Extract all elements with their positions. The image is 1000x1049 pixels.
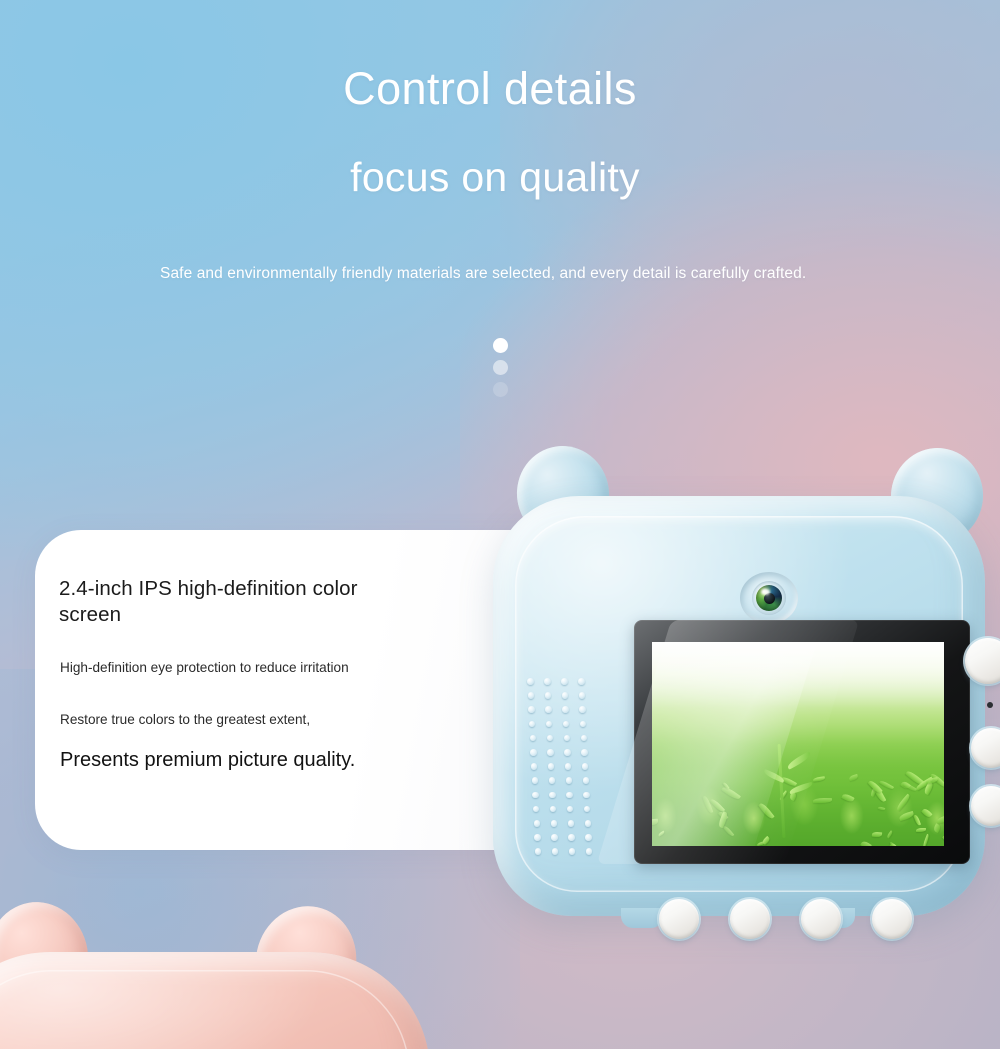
- side-button-shutter[interactable]: [965, 638, 1000, 684]
- display-grass-blade: [762, 836, 771, 845]
- display-grass-blade: [898, 810, 914, 820]
- speaker-dot: [584, 806, 591, 813]
- scroll-dot-2: [493, 360, 508, 375]
- display-grass-blade: [652, 819, 658, 825]
- speaker-dot: [583, 792, 590, 799]
- display-grass-blade: [872, 832, 883, 838]
- speaker-dot: [562, 706, 569, 713]
- display-grass-blade: [896, 793, 912, 811]
- speaker-dot: [551, 834, 558, 841]
- camera-lens-icon: [756, 585, 782, 611]
- side-button-up[interactable]: [971, 728, 1000, 768]
- display-grass-blade: [937, 814, 944, 824]
- speaker-dot: [532, 777, 539, 784]
- speaker-dot-grid: [521, 674, 599, 864]
- display-grass-blade: [722, 825, 734, 838]
- speaker-dot: [535, 848, 542, 855]
- screen-bezel: [634, 620, 970, 864]
- bottom-button-4[interactable]: [872, 899, 912, 939]
- speaker-dot: [549, 777, 556, 784]
- speaker-dot: [578, 678, 585, 685]
- speaker-dot: [582, 763, 589, 770]
- display-grass-blade: [721, 785, 741, 801]
- camera-lens-ring: [740, 572, 798, 624]
- speaker-dot: [583, 777, 590, 784]
- speaker-dot: [531, 763, 538, 770]
- speaker-dot: [568, 820, 575, 827]
- speaker-dot: [530, 735, 537, 742]
- feature-card-bullet-3: Presents premium picture quality.: [60, 748, 480, 774]
- speaker-dot: [545, 706, 552, 713]
- display-grass-blade: [921, 807, 932, 818]
- speaker-dot: [579, 692, 586, 699]
- speaker-dot: [528, 692, 535, 699]
- speaker-dot: [569, 848, 576, 855]
- feature-card-title: 2.4-inch IPS high-definition color scree…: [59, 576, 419, 627]
- speaker-dot: [552, 848, 559, 855]
- speaker-dot: [545, 692, 552, 699]
- camera-body: [493, 496, 985, 916]
- speaker-dot: [546, 721, 553, 728]
- display-grass-blade: [812, 776, 825, 782]
- speaker-dot: [579, 706, 586, 713]
- speaker-dot: [529, 721, 536, 728]
- speaker-dot: [564, 735, 571, 742]
- speaker-dot: [534, 820, 541, 827]
- speaker-dot: [548, 763, 555, 770]
- pink-kids-camera: [0, 900, 460, 1049]
- display-grass-blade: [658, 830, 666, 837]
- scroll-dot-3: [493, 382, 508, 397]
- speaker-dot: [561, 678, 568, 685]
- hero-subtitle: Safe and environmentally friendly materi…: [160, 264, 830, 285]
- scroll-indicator-dots: [493, 338, 508, 404]
- display-grass-blade: [848, 774, 858, 781]
- speaker-dot: [565, 763, 572, 770]
- speaker-dot: [544, 678, 551, 685]
- display-sky-blur: [652, 642, 944, 736]
- side-button-down[interactable]: [971, 786, 1000, 826]
- headline-line-2: focus on quality: [0, 155, 990, 200]
- speaker-dot: [566, 777, 573, 784]
- indicator-led-dot: [987, 702, 993, 708]
- speaker-dot: [547, 749, 554, 756]
- camera-lens-highlight: [762, 589, 770, 595]
- speaker-dot: [547, 735, 554, 742]
- speaker-dot: [564, 749, 571, 756]
- bottom-button-2[interactable]: [730, 899, 770, 939]
- display-grass-blade: [913, 814, 920, 825]
- display-grass-blade: [916, 828, 926, 832]
- speaker-dot: [528, 706, 535, 713]
- display-grass-blade: [860, 840, 872, 846]
- speaker-dot: [581, 735, 588, 742]
- ips-display: [652, 642, 944, 846]
- speaker-dot: [563, 721, 570, 728]
- product-marketing-page: Control details focus on quality Safe an…: [0, 0, 1000, 1049]
- speaker-dot: [586, 848, 593, 855]
- headline-line-1: Control details: [0, 64, 980, 114]
- speaker-dot: [568, 834, 575, 841]
- bottom-button-3[interactable]: [801, 899, 841, 939]
- feature-card-bullet-2: Restore true colors to the greatest exte…: [60, 711, 440, 728]
- bottom-button-1[interactable]: [659, 899, 699, 939]
- speaker-dot: [530, 749, 537, 756]
- display-grass-blade: [841, 793, 855, 804]
- speaker-dot: [532, 792, 539, 799]
- speaker-dot: [550, 806, 557, 813]
- display-grass-blade: [877, 806, 885, 811]
- display-grass-blade: [886, 830, 893, 838]
- speaker-dot: [549, 792, 556, 799]
- speaker-dot: [585, 820, 592, 827]
- speaker-dot: [562, 692, 569, 699]
- speaker-dot: [551, 820, 558, 827]
- display-grass-blade: [933, 823, 942, 833]
- display-grass-blade: [813, 798, 832, 803]
- speaker-dot: [527, 678, 534, 685]
- feature-card-bullet-1: High-definition eye protection to reduce…: [60, 659, 420, 676]
- display-grass-blade: [942, 834, 944, 846]
- speaker-dot: [533, 806, 540, 813]
- speaker-dot: [567, 806, 574, 813]
- blue-kids-camera: [487, 440, 1000, 920]
- speaker-dot: [585, 834, 592, 841]
- speaker-dot: [581, 749, 588, 756]
- display-grass-blade: [758, 801, 774, 819]
- speaker-dot: [566, 792, 573, 799]
- scroll-dot-1: [493, 338, 508, 353]
- pink-camera-body: [0, 952, 430, 1049]
- pink-camera-body-rim: [0, 970, 410, 1049]
- camera-foot-left: [621, 908, 663, 928]
- camera-lens-outer: [752, 581, 786, 615]
- display-grass-blade: [922, 834, 930, 846]
- speaker-dot: [534, 834, 541, 841]
- speaker-dot: [580, 721, 587, 728]
